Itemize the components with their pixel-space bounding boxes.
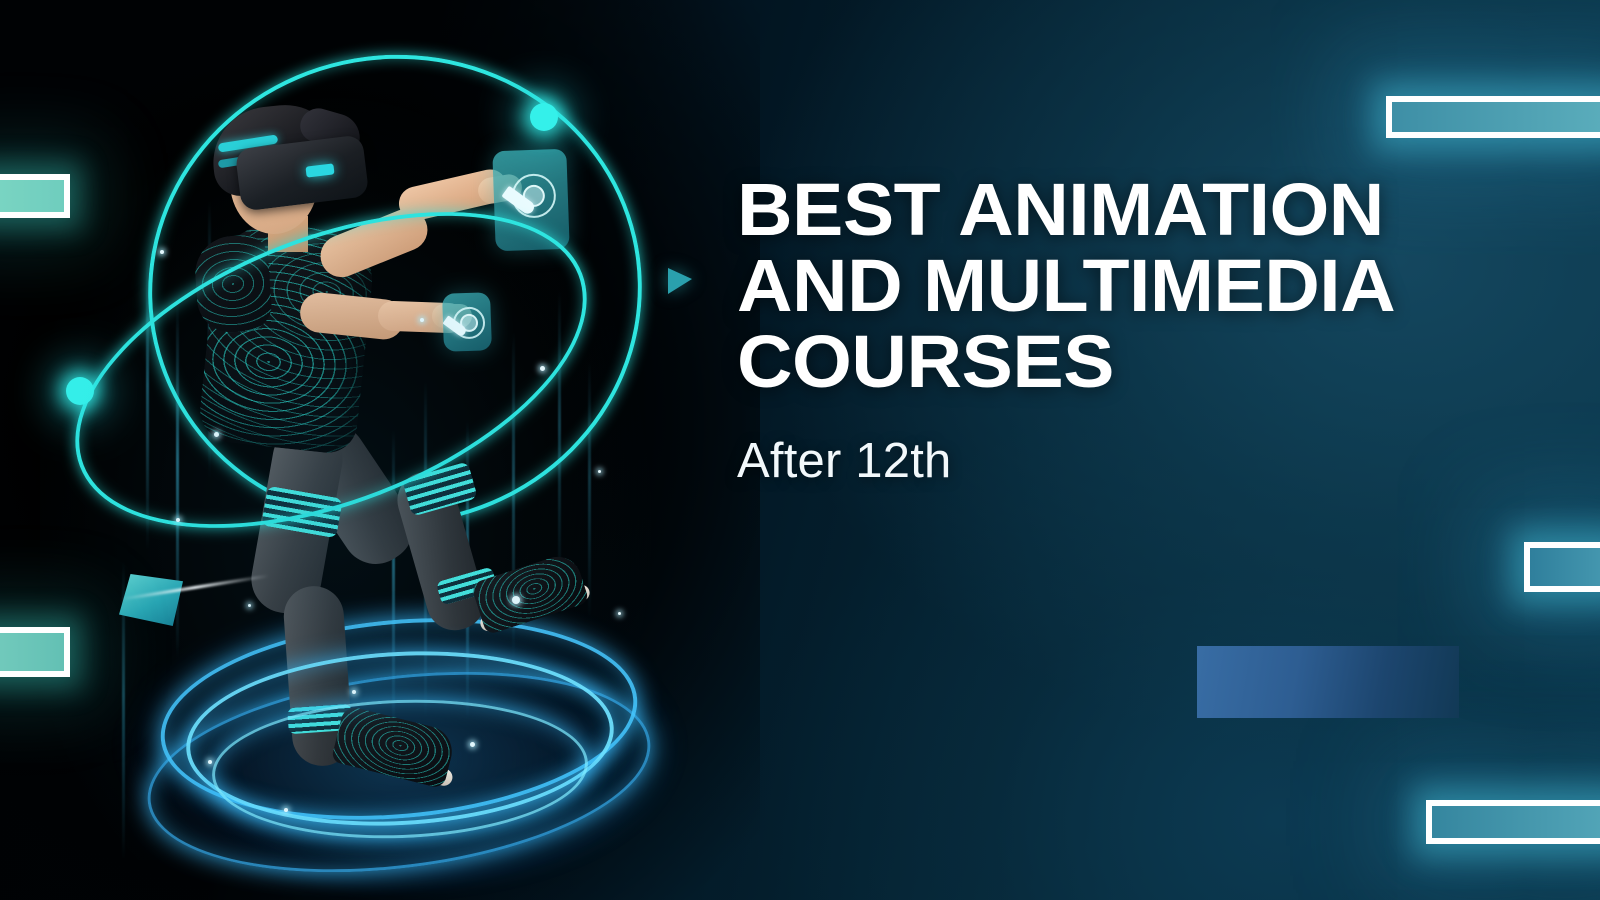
character-right-shoe [470,551,589,636]
sparkle-particle [618,612,621,615]
page-title: BEST ANIMATION AND MULTIMEDIA COURSES [737,172,1559,401]
sparkle-particle [540,366,545,371]
illustration-stage [0,0,720,900]
sparkle-particle [176,518,180,522]
outline-bar-top-left [0,174,70,218]
teal-triangle-accent [668,268,692,294]
outline-bar-middle-right [1524,542,1600,592]
sparkle-particle [208,760,212,764]
outline-bar-top-right [1386,96,1600,138]
outline-bar-fill [0,180,64,212]
sparkle-particle [248,604,251,607]
sparkle-particle [352,690,356,694]
blue-gradient-block [1197,646,1459,718]
outline-bar-fill [1530,548,1600,586]
outline-bar-bottom-right [1426,800,1600,844]
headline-block: BEST ANIMATION AND MULTIMEDIA COURSES Af… [737,172,1527,486]
sparkle-particle [598,470,601,473]
outline-bar-fill [1432,806,1600,838]
outline-bar-bottom-left [0,627,70,677]
sparkle-particle [470,742,475,747]
promo-banner: BEST ANIMATION AND MULTIMEDIA COURSES Af… [0,0,1600,900]
orbit-node-left [66,377,94,405]
outline-bar-fill [1392,102,1600,132]
sparkle-particle [214,432,219,437]
orbit-node-top [530,103,558,131]
sparkle-particle [160,250,164,254]
sparkle-particle [420,318,424,322]
page-subtitle: After 12th [737,437,1527,486]
sparkle-particle [512,596,520,604]
sparkle-particle [284,808,288,812]
outline-bar-fill [0,633,64,671]
